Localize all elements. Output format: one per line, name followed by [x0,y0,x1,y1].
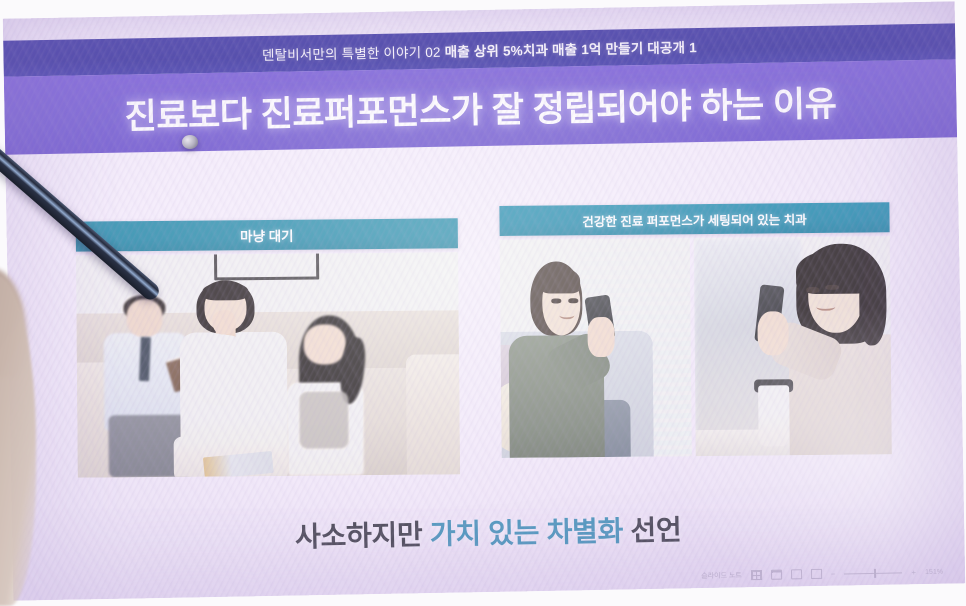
caption-bar-right: 건강한 진료 퍼포먼스가 세팅되어 있는 치과 [499,202,889,236]
page-title: 진료보다 진료퍼포먼스가 잘 정립되어야 하는 이유 [124,75,837,139]
slide-eyebrow-text: 덴탈비서만의 특별한 이야기 02 매출 상위 5%치과 매출 1억 만들기 대… [262,36,697,64]
tagline-highlight: 가치 있는 차별화 [430,515,624,550]
zoom-in-button[interactable]: + [911,568,916,577]
panel-right: 건강한 진료 퍼포먼스가 세팅되어 있는 치과 [499,202,891,458]
zoom-level-label[interactable]: 151% [925,568,943,575]
eyebrow-lead: 덴탈비서만의 특별한 이야기 02 [262,45,441,63]
projection-screen: 덴탈비서만의 특별한 이야기 02 매출 상위 5%치과 매출 1억 만들기 대… [3,1,966,600]
caption-bar-left: 마냥 대기 [76,218,458,251]
normal-view-icon[interactable] [751,570,762,580]
slide-tagline: 사소하지만 가치 있는 차별화 선언 [12,503,965,560]
status-notes-label[interactable]: 슬라이드 노트 [701,570,742,581]
photo-woman-cafe-phone [694,236,892,456]
reading-view-icon[interactable] [791,569,802,579]
photo-row-right [500,236,892,458]
projected-slide-photo: 덴탈비서만의 특별한 이야기 02 매출 상위 5%치과 매출 1억 만들기 대… [0,0,966,606]
panel-left: 마냥 대기 [76,218,460,477]
pointer-tip-icon [182,135,198,149]
caption-label-right: 건강한 진료 퍼포먼스가 세팅되어 있는 치과 [582,209,807,230]
zoom-slider-knob[interactable] [874,568,876,577]
sorter-view-icon[interactable] [771,570,782,580]
tagline-part2: 선언 [623,514,682,546]
slideshow-icon[interactable] [811,569,822,579]
slide-body: 마냥 대기 [5,137,965,600]
tagline-part1: 사소하지만 [295,519,430,552]
zoom-slider[interactable] [844,572,902,574]
zoom-out-button[interactable]: − [831,569,836,578]
eyebrow-bold: 매출 상위 5%치과 매출 1억 만들기 대공개 1 [444,40,697,60]
caption-label-left: 마냥 대기 [240,225,294,245]
photo-woman-sofa-phone [500,238,692,458]
